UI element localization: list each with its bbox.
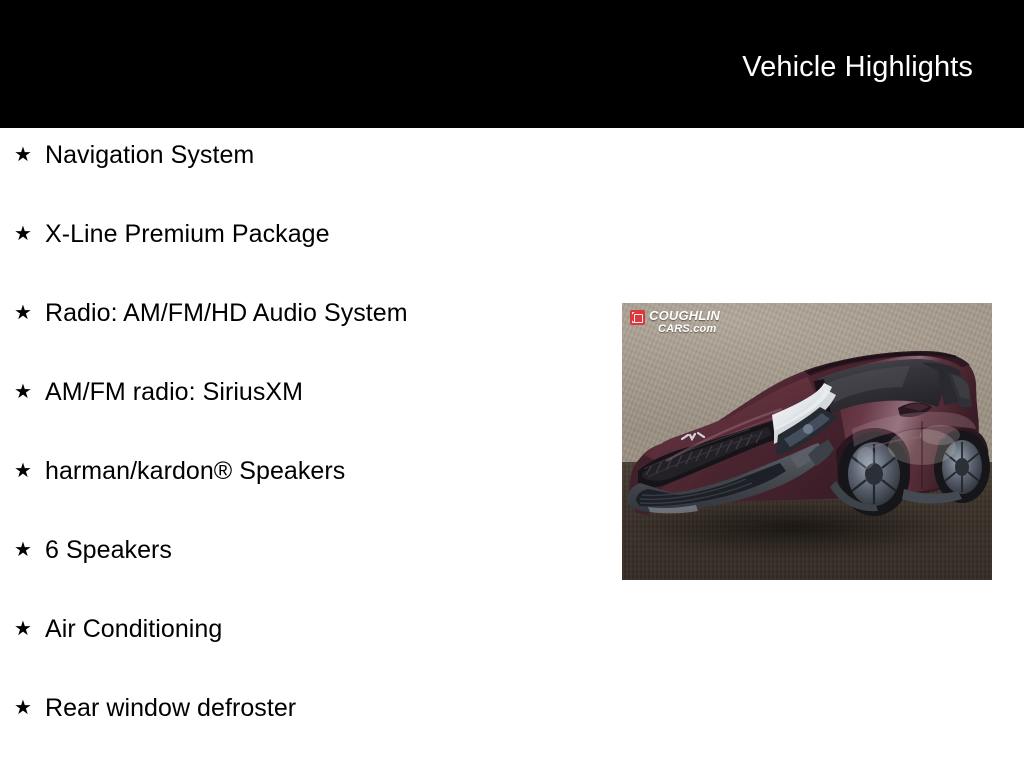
list-item: ★ harman/kardon® Speakers [0,444,610,523]
coughlin-logo-icon [630,310,645,325]
highlight-label: Air Conditioning [45,602,610,656]
star-icon: ★ [14,207,45,261]
list-item: ★ X-Line Premium Package [0,207,610,286]
highlight-label: Radio: AM/FM/HD Audio System [45,286,610,340]
star-icon: ★ [14,602,45,656]
page-title: Vehicle Highlights [742,50,973,84]
star-icon: ★ [14,681,45,735]
watermark-text: COUGHLIN CARS.com [649,309,720,335]
list-item: ★ Rear window defroster [0,681,610,760]
dealer-watermark: COUGHLIN CARS.com [630,309,720,335]
watermark-line-1: COUGHLIN [649,309,720,322]
vehicle-photo[interactable]: COUGHLIN CARS.com [622,303,992,580]
highlight-label: Navigation System [45,128,610,182]
list-item: ★ 6 Speakers [0,523,610,602]
highlight-label: Rear window defroster [45,681,610,735]
highlight-label: harman/kardon® Speakers [45,444,610,498]
list-item: ★ Radio: AM/FM/HD Audio System [0,286,610,365]
star-icon: ★ [14,365,45,419]
list-item: ★ Navigation System [0,128,610,207]
star-icon: ★ [14,286,45,340]
list-item: ★ AM/FM radio: SiriusXM [0,365,610,444]
highlight-label: X-Line Premium Package [45,207,610,261]
list-item: ★ Air Conditioning [0,602,610,681]
star-icon: ★ [14,128,45,182]
watermark-line-2: CARS.com [658,324,720,335]
star-icon: ★ [14,523,45,577]
header-bar: Vehicle Highlights [0,0,1024,128]
highlight-label: AM/FM radio: SiriusXM [45,365,610,419]
highlight-label: 6 Speakers [45,523,610,577]
star-icon: ★ [14,444,45,498]
vehicle-highlights-list: ★ Navigation System ★ X-Line Premium Pac… [0,128,610,760]
suv-illustration [622,303,992,580]
